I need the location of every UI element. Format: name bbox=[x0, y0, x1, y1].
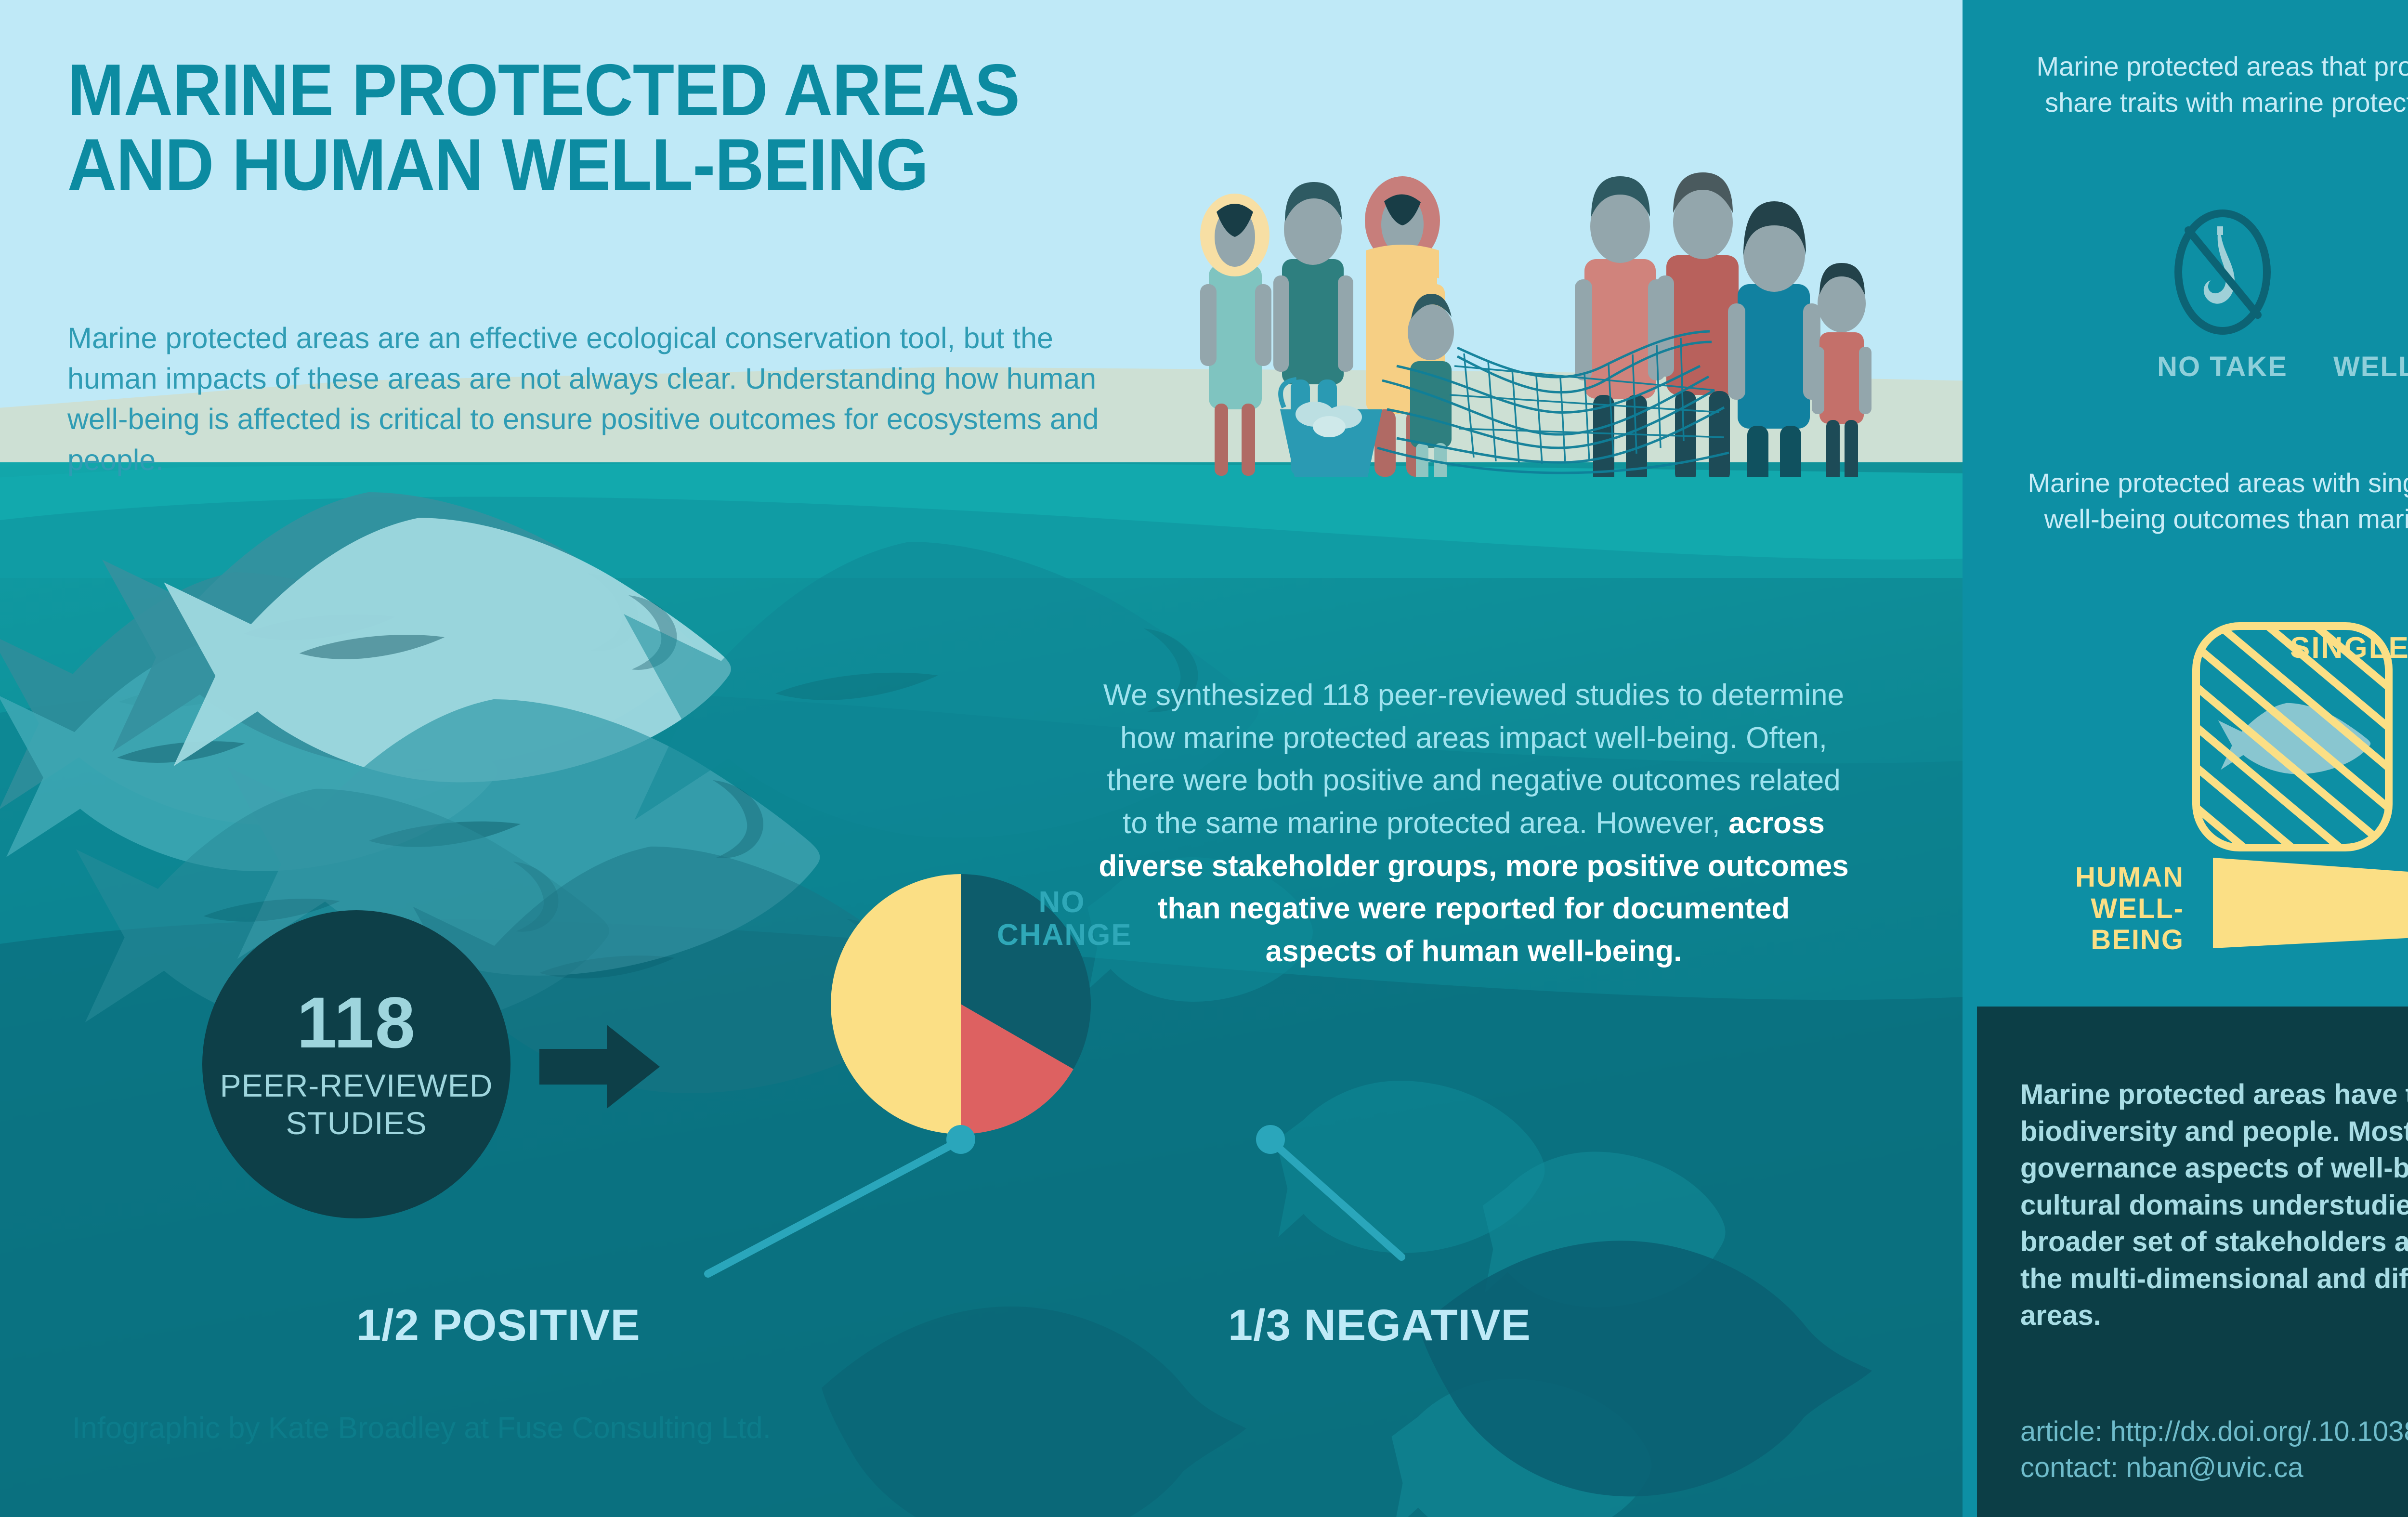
child-figure bbox=[1812, 263, 1871, 477]
title-line-2: AND HUMAN WELL-BEING bbox=[67, 128, 1098, 202]
conclusion-panel: Marine protected areas have the potentia… bbox=[1977, 1007, 2408, 1517]
pie-callout-lines bbox=[650, 1098, 1469, 1315]
studies-label: PEER-REVIEWED STUDIES bbox=[220, 1067, 493, 1142]
infographic-root: MARINE PROTECTED AREAS AND HUMAN WELL-BE… bbox=[0, 0, 2408, 1517]
trait-no-take: NO TAKE bbox=[2129, 207, 2316, 383]
article-link[interactable]: article: http://dx.doi.org/.10.1038/s418… bbox=[2020, 1413, 2408, 1450]
stop-hand-icon: STOP! bbox=[2402, 207, 2408, 337]
trait-well-enforced: STOP! WELL-ENFORCED bbox=[2369, 207, 2408, 383]
contact-email[interactable]: contact: nban@uvic.ca bbox=[2020, 1450, 2408, 1486]
traits-icon-row: NO TAKE STOP! WELL-ENFOR bbox=[2011, 207, 2408, 383]
left-column: MARINE PROTECTED AREAS AND HUMAN WELL-BE… bbox=[0, 0, 1963, 1517]
right-intro-text: Marine protected areas that promote docu… bbox=[2003, 48, 2408, 120]
zone-single-shape bbox=[2196, 626, 2389, 848]
intro-paragraph: Marine protected areas are an effective … bbox=[67, 318, 1141, 480]
person-figure bbox=[1657, 172, 1739, 477]
body-paragraph: We synthesized 118 peer-reviewed studies… bbox=[1098, 674, 1849, 973]
trait-label: NO TAKE bbox=[2157, 351, 2288, 383]
zones-intro-text: Marine protected areas with single zones… bbox=[2011, 465, 2408, 537]
person-figure bbox=[1728, 201, 1820, 477]
studies-badge: 118 PEER-REVIEWED STUDIES bbox=[202, 910, 510, 1218]
pie-slice-positive bbox=[831, 874, 961, 1134]
trait-label: WELL-ENFORCED bbox=[2333, 351, 2408, 383]
wellbeing-gradient-wedge bbox=[2213, 855, 2408, 951]
pie-label-negative: 1/3 NEGATIVE bbox=[1228, 1300, 1531, 1351]
callout-dot bbox=[946, 1125, 975, 1154]
studies-count: 118 bbox=[297, 986, 416, 1059]
right-column: Marine protected areas that promote docu… bbox=[1963, 0, 2408, 1517]
conclusion-text: Marine protected areas have the potentia… bbox=[2020, 1076, 2408, 1334]
no-fishing-hook-icon bbox=[2162, 207, 2283, 337]
wellbeing-gradient-label: HUMAN WELL-BEING bbox=[2011, 862, 2184, 956]
person-figure bbox=[1200, 194, 1271, 476]
source-links: article: http://dx.doi.org/.10.1038/s418… bbox=[2020, 1413, 2408, 1486]
page-title: MARINE PROTECTED AREAS AND HUMAN WELL-BE… bbox=[67, 53, 1098, 202]
pie-label-positive: 1/2 POSITIVE bbox=[356, 1300, 641, 1351]
title-line-1: MARINE PROTECTED AREAS bbox=[67, 53, 1098, 128]
fishing-community-illustration bbox=[1170, 140, 1963, 477]
arrow-right-icon bbox=[539, 1021, 665, 1112]
callout-dot bbox=[1256, 1125, 1285, 1154]
credit-line: Infographic by Kate Broadley at Fuse Con… bbox=[72, 1411, 771, 1445]
